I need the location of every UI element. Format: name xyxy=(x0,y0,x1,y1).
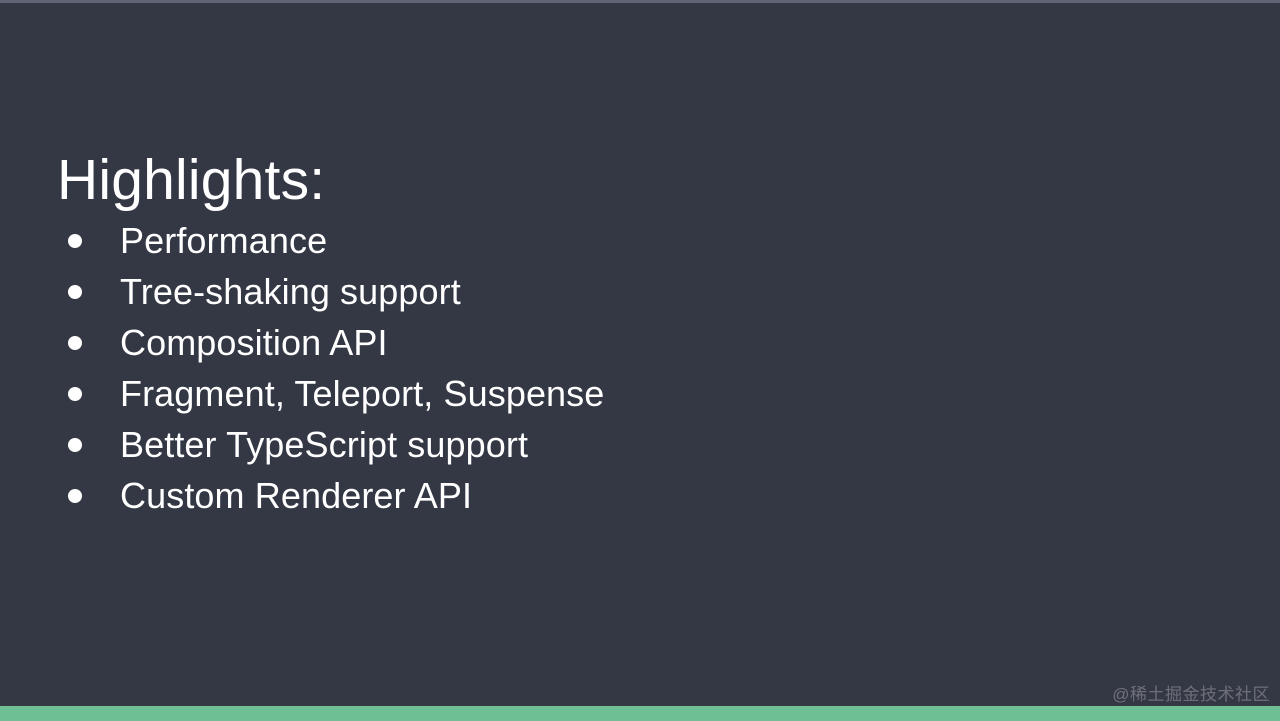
top-divider-rule xyxy=(0,0,1280,3)
list-item-label: Custom Renderer API xyxy=(120,478,472,514)
list-item: Better TypeScript support xyxy=(57,419,1157,470)
accent-bottom-bar xyxy=(0,706,1280,721)
highlights-list: Performance Tree-shaking support Composi… xyxy=(57,215,1157,521)
list-item: Composition API xyxy=(57,317,1157,368)
list-item-label: Performance xyxy=(120,223,327,259)
list-item-label: Composition API xyxy=(120,325,388,361)
bullet-dot-icon xyxy=(68,285,82,299)
presentation-slide: Highlights: Performance Tree-shaking sup… xyxy=(0,0,1280,721)
bullet-dot-icon xyxy=(68,336,82,350)
list-item: Custom Renderer API xyxy=(57,470,1157,521)
list-item-label: Tree-shaking support xyxy=(120,274,461,310)
list-item: Fragment, Teleport, Suspense xyxy=(57,368,1157,419)
list-item: Performance xyxy=(57,215,1157,266)
slide-content: Highlights: Performance Tree-shaking sup… xyxy=(57,152,1157,521)
list-item: Tree-shaking support xyxy=(57,266,1157,317)
page-title: Highlights: xyxy=(57,152,1157,209)
bullet-dot-icon xyxy=(68,234,82,248)
list-item-label: Fragment, Teleport, Suspense xyxy=(120,376,604,412)
bullet-dot-icon xyxy=(68,438,82,452)
bullet-dot-icon xyxy=(68,387,82,401)
watermark-text: @稀土掘金技术社区 xyxy=(1112,680,1270,705)
list-item-label: Better TypeScript support xyxy=(120,427,528,463)
bullet-dot-icon xyxy=(68,489,82,503)
